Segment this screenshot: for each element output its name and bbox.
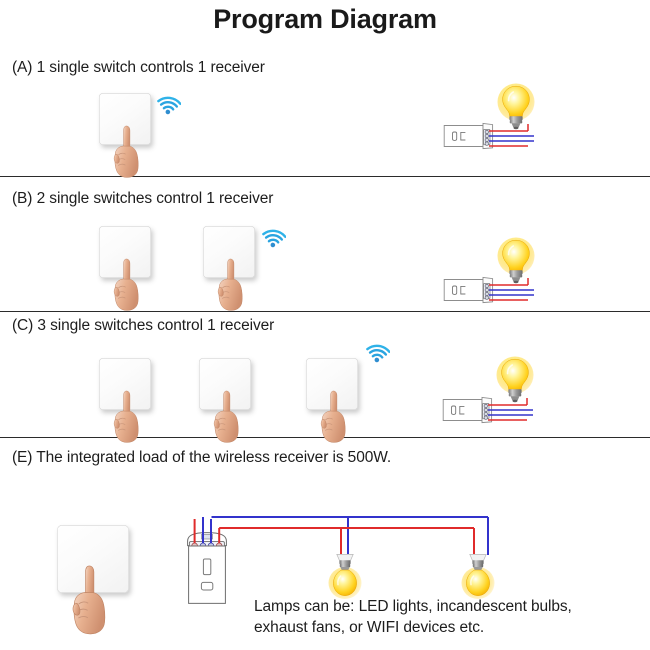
light-bulb [496,356,534,406]
section-a-caption: (A) 1 single switch controls 1 receiver [12,59,265,77]
light-bulb [497,237,535,287]
wireless-receiver [442,395,496,425]
section-divider-b-c [0,311,650,312]
section-e-caption: (E) The integrated load of the wireless … [12,449,391,467]
lamps-footnote-line-1: Lamps can be: LED lights, incandescent b… [254,597,572,618]
wireless-receiver [443,121,497,151]
program-diagram-page: Program Diagram (A) 1 single switch cont… [0,0,650,650]
wireless-receiver [443,275,497,305]
wifi-signal-icon [157,92,181,116]
section-divider-a-b [0,176,650,177]
page-title: Program Diagram [0,4,650,35]
pointing-hand [113,256,147,312]
pointing-hand [113,123,147,179]
pointing-hand [71,562,117,636]
light-bulb [328,552,362,600]
pointing-hand [213,388,247,444]
pointing-hand [113,388,147,444]
section-b-caption: (B) 2 single switches control 1 receiver [12,190,273,208]
lamps-footnote: Lamps can be: LED lights, incandescent b… [254,597,572,639]
pointing-hand [217,256,251,312]
light-bulb [497,83,535,133]
wireless-receiver [184,527,230,605]
wifi-signal-icon [262,225,286,249]
section-c-caption: (C) 3 single switches control 1 receiver [12,317,274,335]
light-bulb [461,552,495,600]
wifi-signal-icon [366,340,390,364]
pointing-hand [320,388,354,444]
lamps-footnote-line-2: exhaust fans, or WIFI devices etc. [254,618,572,639]
